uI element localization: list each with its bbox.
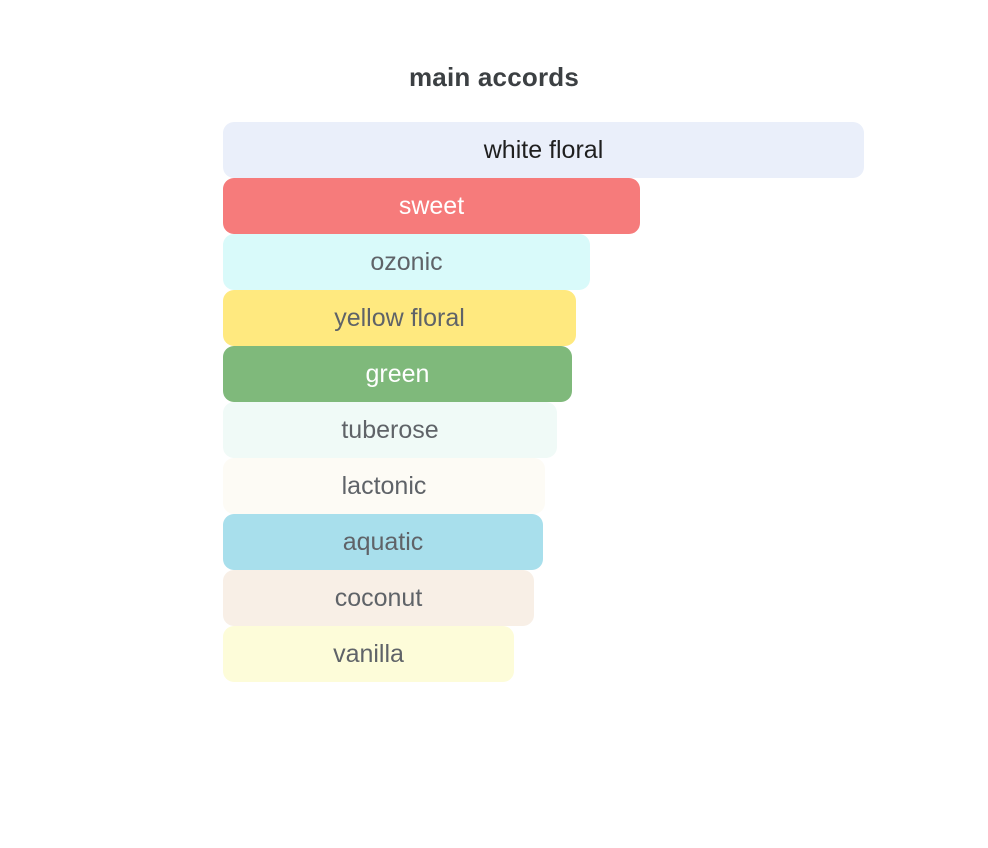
accord-bar[interactable]: yellow floral — [223, 290, 576, 346]
accord-bar[interactable]: ozonic — [223, 234, 590, 290]
accord-bar-label: vanilla — [333, 642, 404, 667]
main-accords-chart: main accords white floralsweetozonicyell… — [0, 0, 988, 848]
accord-bar[interactable]: coconut — [223, 570, 534, 626]
chart-title: main accords — [0, 62, 988, 93]
accord-bar-label: tuberose — [341, 418, 438, 443]
accord-bar[interactable]: white floral — [223, 122, 864, 178]
accord-bar-label: white floral — [484, 138, 604, 163]
accord-bar-label: lactonic — [342, 474, 427, 499]
accord-bar-label: green — [366, 362, 430, 387]
accord-bar-label: yellow floral — [334, 306, 465, 331]
accord-bar-label: ozonic — [370, 250, 442, 275]
accord-bar-label: aquatic — [343, 530, 424, 555]
accord-bar[interactable]: lactonic — [223, 458, 545, 514]
accord-bar[interactable]: green — [223, 346, 572, 402]
accord-bar[interactable]: vanilla — [223, 626, 514, 682]
accord-bar-list: white floralsweetozonicyellow floralgree… — [223, 122, 923, 682]
accord-bar[interactable]: sweet — [223, 178, 640, 234]
accord-bar[interactable]: tuberose — [223, 402, 557, 458]
accord-bar-label: sweet — [399, 194, 464, 219]
accord-bar[interactable]: aquatic — [223, 514, 543, 570]
accord-bar-label: coconut — [335, 586, 423, 611]
